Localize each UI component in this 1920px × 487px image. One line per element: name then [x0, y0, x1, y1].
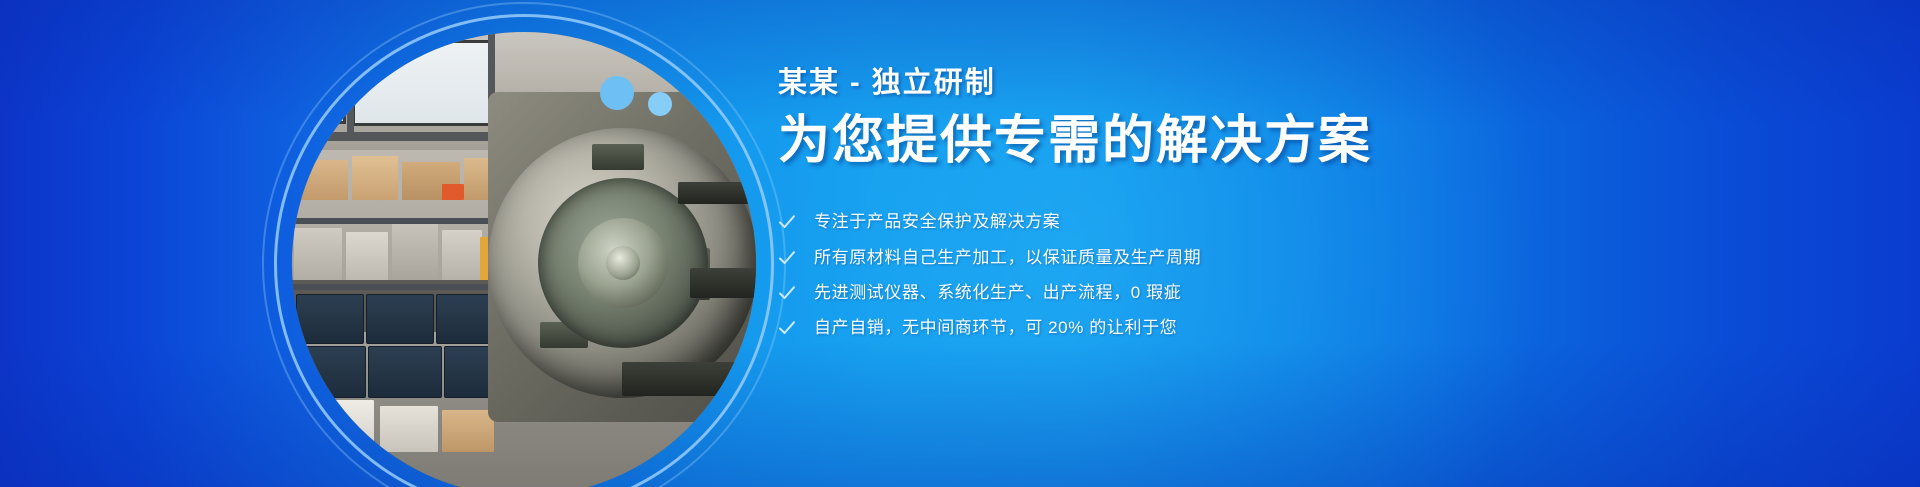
photo-box	[296, 160, 348, 200]
photo-crate	[292, 346, 366, 398]
banner-content: 某某 - 独立研制 为您提供专需的解决方案 专注于产品安全保护及解决方案 所有原…	[778, 68, 1538, 355]
photo-window	[300, 50, 346, 124]
photo-shelf-bar	[292, 284, 507, 290]
feature-list: 专注于产品安全保护及解决方案 所有原材料自己生产加工，以保证质量及生产周期 先进…	[778, 212, 1538, 339]
list-item-label: 所有原材料自己生产加工，以保证质量及生产周期	[814, 248, 1201, 268]
check-icon	[778, 319, 796, 337]
check-icon	[778, 249, 796, 267]
banner-headline: 为您提供专需的解决方案	[778, 112, 1538, 170]
hero-banner: 某某 - 独立研制 为您提供专需的解决方案 专注于产品安全保护及解决方案 所有原…	[0, 0, 1920, 487]
check-icon	[778, 213, 796, 231]
list-item: 自产自销，无中间商环节，可 20% 的让利于您	[778, 318, 1538, 338]
list-item-label: 专注于产品安全保护及解决方案	[814, 212, 1060, 232]
photo-crate	[296, 294, 364, 344]
photo-box	[346, 232, 388, 280]
photo-tool-arm	[678, 182, 756, 204]
photo-tool-arm	[622, 362, 742, 396]
photo-chuck-hub	[606, 246, 640, 280]
photo-box	[380, 406, 438, 452]
photo-crate	[368, 346, 442, 398]
photo-beam	[347, 32, 354, 136]
photo-box	[442, 230, 482, 280]
photo-box	[442, 410, 494, 452]
list-item-label: 自产自销，无中间商环节，可 20% 的让利于您	[814, 318, 1177, 338]
hero-photo	[292, 32, 756, 487]
photo-tool-arm	[690, 268, 756, 298]
photo-box	[310, 400, 374, 452]
list-item: 专注于产品安全保护及解决方案	[778, 212, 1538, 232]
photo-box	[442, 184, 464, 200]
photo-box	[294, 228, 342, 280]
decor-dot-large	[600, 76, 634, 110]
photo-chuck-jaw	[592, 144, 644, 170]
check-icon	[778, 284, 796, 302]
decor-dot-small	[648, 92, 672, 116]
list-item-label: 先进测试仪器、系统化生产、出产流程，0 瑕疵	[814, 283, 1181, 303]
photo-box	[392, 224, 438, 280]
list-item: 先进测试仪器、系统化生产、出产流程，0 瑕疵	[778, 283, 1538, 303]
list-item: 所有原材料自己生产加工，以保证质量及生产周期	[778, 248, 1538, 268]
photo-box	[352, 156, 398, 200]
photo-crate	[366, 294, 434, 344]
photo-window	[352, 40, 492, 126]
banner-eyebrow: 某某 - 独立研制	[778, 68, 1538, 100]
hero-photo-content	[292, 32, 756, 487]
